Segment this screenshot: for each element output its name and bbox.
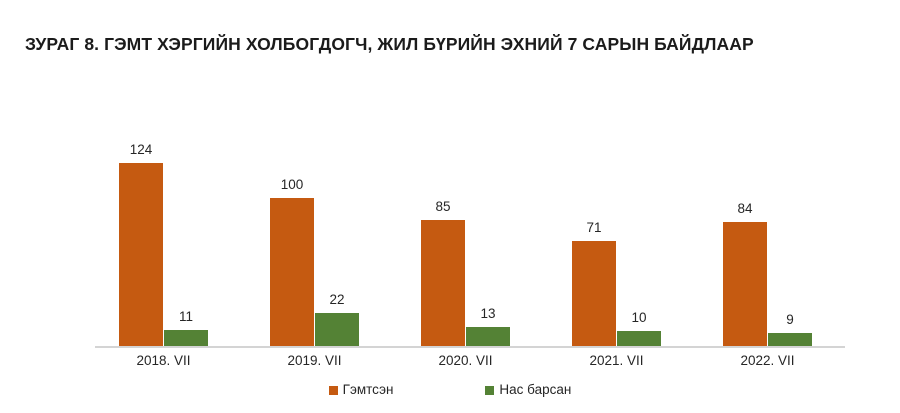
bar-group-2020: 85 13 [397, 120, 534, 346]
bar-value-label: 85 [435, 199, 450, 215]
legend-item-nas-barsan[interactable]: Нас барсан [485, 381, 571, 399]
bar-nas-barsan-2020[interactable]: 13 [466, 327, 510, 346]
bar-group-2018: 124 11 [95, 120, 232, 346]
bar-value-label: 9 [786, 312, 794, 328]
bar-nas-barsan-2019[interactable]: 22 [315, 313, 359, 346]
x-axis-line [95, 346, 845, 348]
legend-swatch-icon [485, 386, 494, 395]
figure-chart-8: ЗУРАГ 8. ГЭМТ ХЭРГИЙН ХОЛБОГДОГЧ, ЖИЛ БҮ… [0, 0, 900, 413]
legend-label: Гэмтсэн [343, 381, 394, 399]
bar-nas-barsan-2018[interactable]: 11 [164, 330, 208, 346]
bar-value-label: 84 [737, 201, 752, 217]
bar-value-label: 10 [631, 310, 646, 326]
bar-value-label: 13 [480, 306, 495, 322]
bar-value-label: 22 [329, 292, 344, 308]
bar-gemtsen-2022[interactable]: 84 [723, 222, 767, 346]
legend-label: Нас барсан [499, 381, 571, 399]
x-axis-label-2022: 2022. VII [699, 352, 836, 370]
bar-value-label: 71 [586, 220, 601, 236]
legend: Гэмтсэн Нас барсан [0, 381, 900, 399]
bar-group-2019: 100 22 [246, 120, 383, 346]
page-title: ЗУРАГ 8. ГЭМТ ХЭРГИЙН ХОЛБОГДОГЧ, ЖИЛ БҮ… [25, 32, 875, 56]
x-axis-label-2018: 2018. VII [95, 352, 232, 370]
x-axis-label-2020: 2020. VII [397, 352, 534, 370]
bar-group-2021: 71 10 [548, 120, 685, 346]
legend-swatch-icon [329, 386, 338, 395]
bar-gemtsen-2018[interactable]: 124 [119, 163, 163, 346]
bar-value-label: 100 [281, 177, 304, 193]
bar-value-label: 11 [179, 309, 193, 325]
bar-gemtsen-2020[interactable]: 85 [421, 220, 465, 346]
x-axis-label-2019: 2019. VII [246, 352, 383, 370]
bar-gemtsen-2019[interactable]: 100 [270, 198, 314, 346]
bar-value-label: 124 [130, 142, 153, 158]
legend-item-gemtsen[interactable]: Гэмтсэн [329, 381, 394, 399]
x-axis-label-2021: 2021. VII [548, 352, 685, 370]
bar-group-2022: 84 9 [699, 120, 836, 346]
plot-area: 124 11 100 22 85 13 [95, 120, 845, 348]
bar-gemtsen-2021[interactable]: 71 [572, 241, 616, 346]
bar-nas-barsan-2022[interactable]: 9 [768, 333, 812, 346]
bar-nas-barsan-2021[interactable]: 10 [617, 331, 661, 346]
